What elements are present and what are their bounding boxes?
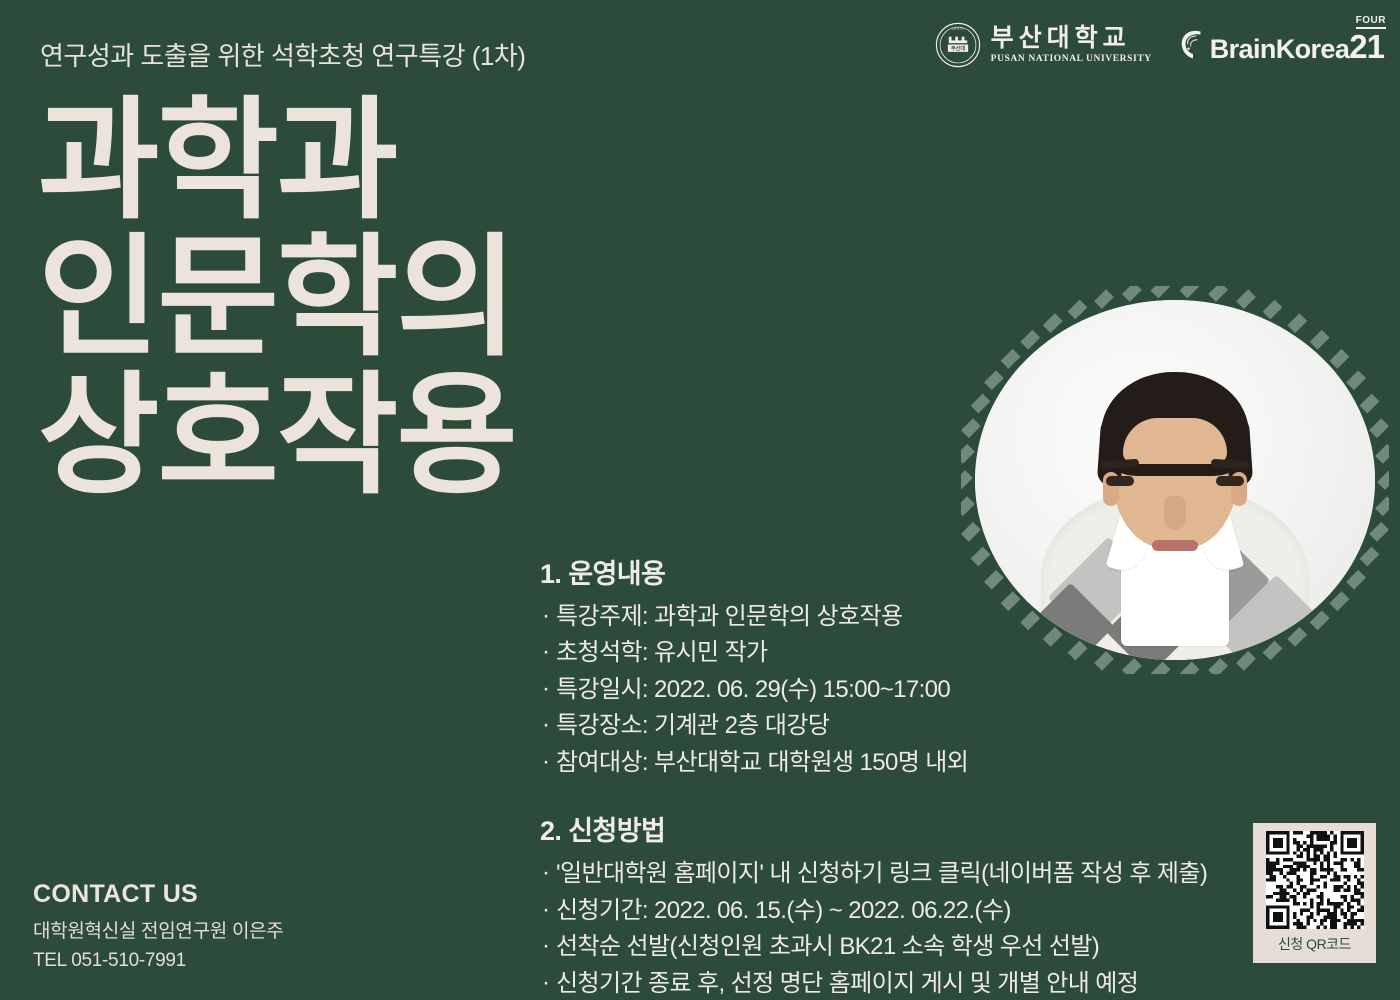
list-item: 특강장소: 기계관 2층 대강당	[540, 708, 1270, 744]
list-item: '일반대학원 홈페이지' 내 신청하기 링크 클릭(네이버폼 작성 후 제출)	[540, 856, 1270, 892]
brainkorea-four-label: FOUR	[1356, 16, 1386, 29]
title-line-3: 상호작용	[38, 367, 598, 504]
list-item: 신청기간: 2022. 06. 15.(수) ~ 2022. 06.22.(수)	[540, 893, 1270, 929]
qr-code-image	[1266, 831, 1364, 929]
brain-head-icon	[1178, 27, 1208, 63]
section-1-heading: 1. 운영내용	[540, 552, 1270, 591]
list-item: 신청기간 종료 후, 선정 명단 홈페이지 게시 및 개별 안내 예정	[540, 966, 1270, 1000]
section-2-heading: 2. 신청방법	[540, 809, 1270, 848]
pnu-logo: 부산대 국 립 대 학 교 부산대학교 PUSAN NATIONAL UNIVE…	[935, 22, 1152, 68]
section-1-list: 특강주제: 과학과 인문학의 상호작용 초청석학: 유시민 작가 특강일시: 2…	[540, 599, 1270, 781]
list-item: 특강일시: 2022. 06. 29(수) 15:00~17:00	[540, 672, 1270, 708]
svg-text:부산대: 부산대	[951, 45, 965, 52]
details-content: 1. 운영내용 특강주제: 과학과 인문학의 상호작용 초청석학: 유시민 작가…	[540, 552, 1270, 1000]
list-item: 선착순 선발(신청인원 초과시 BK21 소속 학생 우선 선발)	[540, 929, 1270, 965]
page-title: 과학과 인문학의 상호작용	[38, 92, 598, 504]
list-item: 초청석학: 유시민 작가	[540, 635, 1270, 671]
brainkorea-wordmark: BrainKorea21 FOUR	[1210, 30, 1384, 63]
logo-bar: 부산대 국 립 대 학 교 부산대학교 PUSAN NATIONAL UNIVE…	[935, 22, 1384, 68]
pnu-seal-icon: 부산대 국 립 대 학 교	[935, 22, 981, 68]
contact-person: 대학원혁신실 전임연구원 이은주	[33, 917, 283, 946]
list-item: 참여대상: 부산대학교 대학원생 150명 내외	[540, 745, 1270, 781]
contact-block: CONTACT US 대학원혁신실 전임연구원 이은주 TEL 051-510-…	[33, 880, 283, 976]
pnu-name-ko: 부산대학교	[991, 26, 1152, 51]
brainkorea-text: BrainKorea	[1210, 34, 1350, 64]
brainkorea21-logo: BrainKorea21 FOUR	[1178, 27, 1384, 63]
pnu-names: 부산대학교 PUSAN NATIONAL UNIVERSITY	[991, 26, 1152, 65]
title-line-2: 인문학의	[38, 229, 598, 366]
qr-card[interactable]: 신청 QR코드	[1253, 823, 1376, 963]
title-line-1: 과학과	[38, 92, 598, 229]
contact-heading: CONTACT US	[33, 880, 283, 909]
section-2-list: '일반대학원 홈페이지' 내 신청하기 링크 클릭(네이버폼 작성 후 제출) …	[540, 856, 1270, 1000]
qr-label: 신청 QR코드	[1278, 934, 1351, 954]
poster-root: 연구성과 도출을 위한 석학초청 연구특강 (1차) 부산대 국 립 대 학 교	[0, 0, 1400, 1000]
brainkorea-number: 21	[1349, 28, 1384, 65]
pnu-name-en: PUSAN NATIONAL UNIVERSITY	[991, 55, 1152, 65]
list-item: 특강주제: 과학과 인문학의 상호작용	[540, 599, 1270, 635]
contact-tel: TEL 051-510-7991	[33, 946, 283, 975]
poster-kicker: 연구성과 도출을 위한 석학초청 연구특강 (1차)	[40, 36, 525, 73]
